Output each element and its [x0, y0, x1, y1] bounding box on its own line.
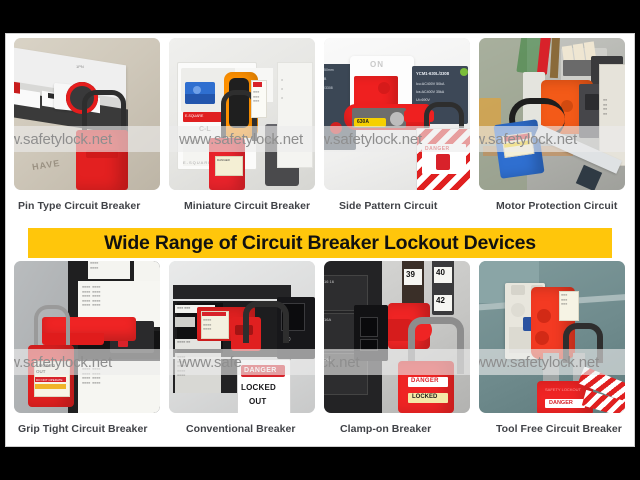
caption-tool-free-circuit-breaker: Tool Free Circuit Breaker — [496, 423, 622, 435]
photo-tool-free-circuit-breaker: ≡≡≡≡≡≡≡≡≡ SAFETY LOCKOUT DANGER www.safe… — [479, 261, 625, 413]
photo-side-pattern-circuit: 50mmB/3308 ON YCM1-630L/3308 Icu:AC400V … — [324, 38, 470, 190]
gallery-row-bottom: ≡≡≡≡≡≡≡≡ ≡≡≡≡ ≡≡≡≡≡≡≡≡ ≡≡≡≡≡≡≡≡ ≡≡≡≡≡≡≡≡… — [6, 261, 634, 413]
gallery-tile-miniature[interactable]: E-SQUARE C-L ╱╱╱╱╱╱╱ E-SQUARE ≡≡≡≡≡≡≡≡≡ … — [169, 38, 315, 190]
caption-grip-tight-circuit-breaker: Grip Tight Circuit Breaker — [18, 423, 147, 435]
caption-conventional-breaker: Conventional Breaker — [186, 423, 296, 435]
caption-miniature-circuit-breaker: Miniature Circuit Breaker — [184, 200, 310, 212]
gallery-card: HAVE 1PN www.safetylock.net Pin Type Cir… — [6, 34, 634, 446]
photo-conventional-breaker: ≡≡≡ ≡≡≡ ≡≡≡≡ ≡≡ ≡≡≡≡≡≡≡≡≡≡≡≡≡≡≡≡≡≡≡≡ 20 … — [169, 261, 315, 413]
photo-motor-protection-circuit: ≡≡≡≡≡≡≡≡ www.safetylock.net — [479, 38, 625, 190]
headline-banner: Wide Range of Circuit Breaker Lockout De… — [28, 228, 612, 258]
gallery-tile-clamp-on[interactable]: 16 16 16A 16A 39 40 42 — [324, 261, 470, 413]
photo-grip-tight-circuit-breaker: ≡≡≡≡≡≡≡≡ ≡≡≡≡ ≡≡≡≡≡≡≡≡ ≡≡≡≡≡≡≡≡ ≡≡≡≡≡≡≡≡… — [14, 261, 160, 413]
gallery-tile-grip-tight[interactable]: ≡≡≡≡≡≡≡≡ ≡≡≡≡ ≡≡≡≡≡≡≡≡ ≡≡≡≡≡≡≡≡ ≡≡≡≡≡≡≡≡… — [14, 261, 160, 413]
gallery-tile-tool-free[interactable]: ≡≡≡≡≡≡≡≡≡ SAFETY LOCKOUT DANGER www.safe… — [479, 261, 625, 413]
gallery-row-top: HAVE 1PN www.safetylock.net Pin Type Cir… — [6, 38, 634, 190]
caption-motor-protection-circuit: Motor Protection Circuit — [496, 200, 617, 212]
gallery-tile-side-pattern[interactable]: 50mmB/3308 ON YCM1-630L/3308 Icu:AC400V … — [324, 38, 470, 190]
gallery-tile-conventional[interactable]: ≡≡≡ ≡≡≡ ≡≡≡≡ ≡≡ ≡≡≡≡≡≡≡≡≡≡≡≡≡≡≡≡≡≡≡≡ 20 … — [169, 261, 315, 413]
photo-miniature-circuit-breaker: E-SQUARE C-L ╱╱╱╱╱╱╱ E-SQUARE ≡≡≡≡≡≡≡≡≡ … — [169, 38, 315, 190]
photo-pin-type-circuit-breaker: HAVE 1PN www.safetylock.net — [14, 38, 160, 190]
caption-pin-type-circuit-breaker: Pin Type Circuit Breaker — [18, 200, 140, 212]
gallery-tile-pin-type[interactable]: HAVE 1PN www.safetylock.net — [14, 38, 160, 190]
headline-banner-text: Wide Range of Circuit Breaker Lockout De… — [104, 232, 536, 255]
gallery-tile-motor-protection[interactable]: ≡≡≡≡≡≡≡≡ www.safetylock.net — [479, 38, 625, 190]
caption-clamp-on-breaker: Clamp-on Breaker — [340, 423, 431, 435]
photo-clamp-on-breaker: 16 16 16A 16A 39 40 42 — [324, 261, 470, 413]
caption-side-pattern-circuit: Side Pattern Circuit — [339, 200, 437, 212]
page-root: HAVE 1PN www.safetylock.net Pin Type Cir… — [0, 0, 640, 480]
